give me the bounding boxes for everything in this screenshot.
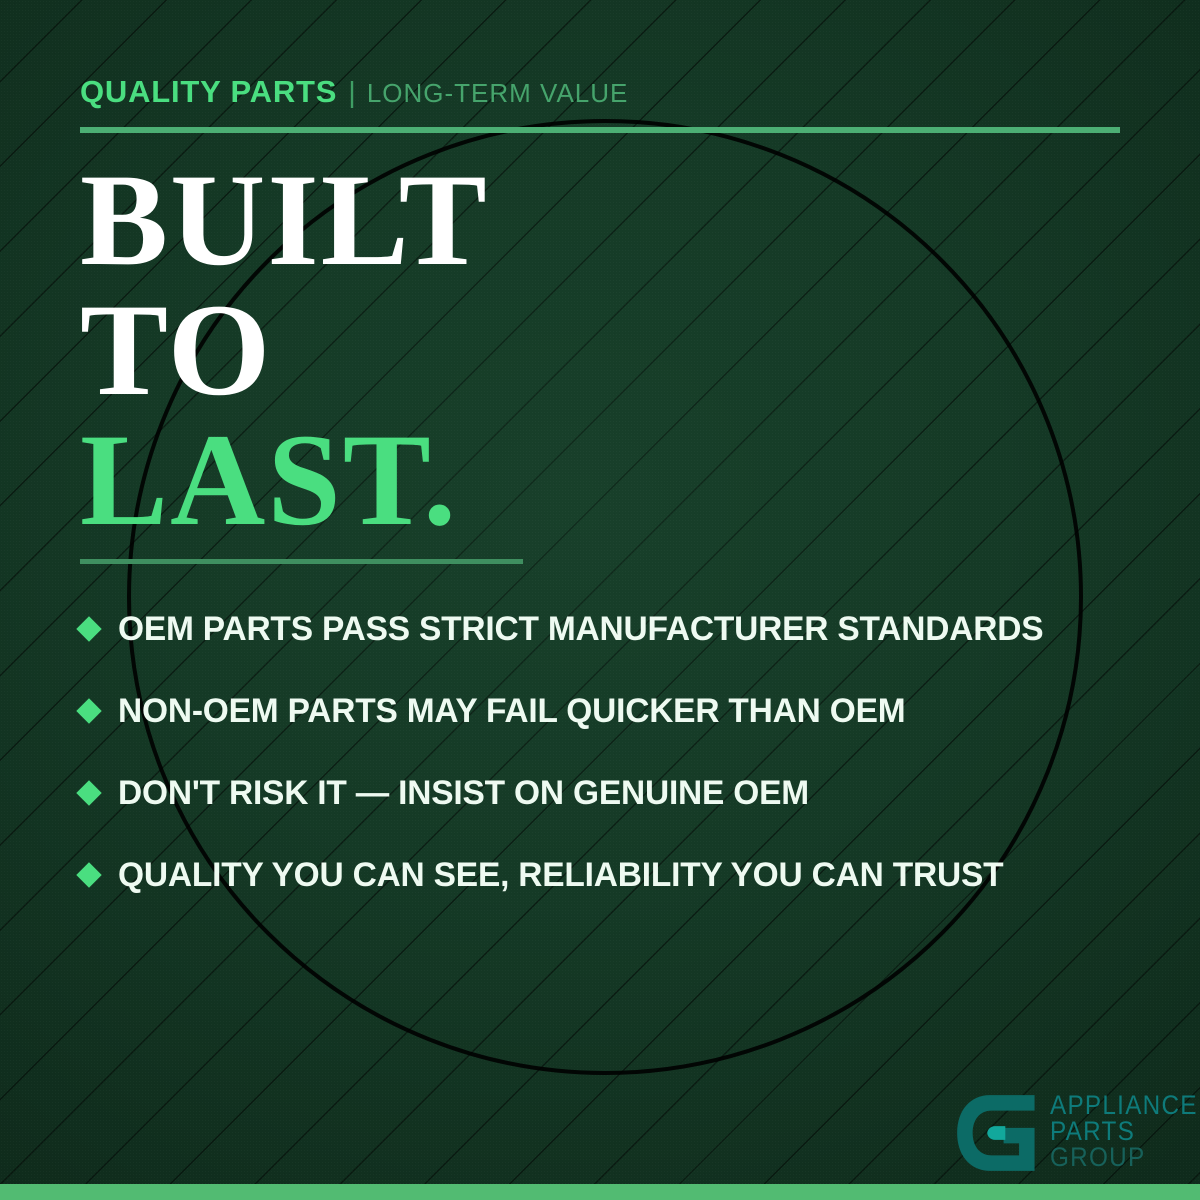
g-monogram-icon — [952, 1090, 1038, 1176]
header-divider-rule — [80, 127, 1120, 133]
kicker-separator: | — [348, 77, 356, 110]
list-item-label: DON'T RISK IT — INSIST ON GENUINE OEM — [118, 774, 809, 813]
brand-logo: APPLIANCE PARTS GROUP — [952, 1090, 1200, 1176]
diamond-bullet-icon — [76, 616, 101, 641]
kicker-sub-label: LONG-TERM VALUE — [367, 78, 629, 109]
list-item-label: OEM PARTS PASS STRICT MANUFACTURER STAND… — [118, 610, 1043, 649]
brand-logo-line-3: GROUP — [1050, 1145, 1198, 1171]
benefits-list: OEM PARTS PASS STRICT MANUFACTURER STAND… — [80, 588, 1140, 916]
list-item-label: QUALITY YOU CAN SEE, RELIABILITY YOU CAN… — [118, 856, 1003, 895]
headline-line-3: LAST. — [80, 416, 489, 544]
headline-line-1: BUILT — [80, 156, 489, 284]
poster-canvas: QUALITY PARTS | LONG-TERM VALUE BUILT TO… — [0, 0, 1200, 1200]
headline-divider-rule — [80, 559, 523, 564]
list-item: DON'T RISK IT — INSIST ON GENUINE OEM — [80, 752, 1140, 834]
kicker-main-label: QUALITY PARTS — [80, 74, 337, 110]
kicker: QUALITY PARTS | LONG-TERM VALUE — [80, 74, 628, 110]
headline-line-2: TO — [80, 286, 489, 414]
headline: BUILT TO LAST. — [80, 156, 489, 546]
diamond-bullet-icon — [76, 780, 101, 805]
bottom-accent-bar — [0, 1184, 1200, 1200]
list-item: NON-OEM PARTS MAY FAIL QUICKER THAN OEM — [80, 670, 1140, 752]
list-item-label: NON-OEM PARTS MAY FAIL QUICKER THAN OEM — [118, 692, 905, 731]
brand-logo-wordmark: APPLIANCE PARTS GROUP — [1050, 1090, 1200, 1171]
diamond-bullet-icon — [76, 698, 101, 723]
list-item: QUALITY YOU CAN SEE, RELIABILITY YOU CAN… — [80, 834, 1140, 916]
diamond-bullet-icon — [76, 862, 101, 887]
list-item: OEM PARTS PASS STRICT MANUFACTURER STAND… — [80, 588, 1140, 670]
